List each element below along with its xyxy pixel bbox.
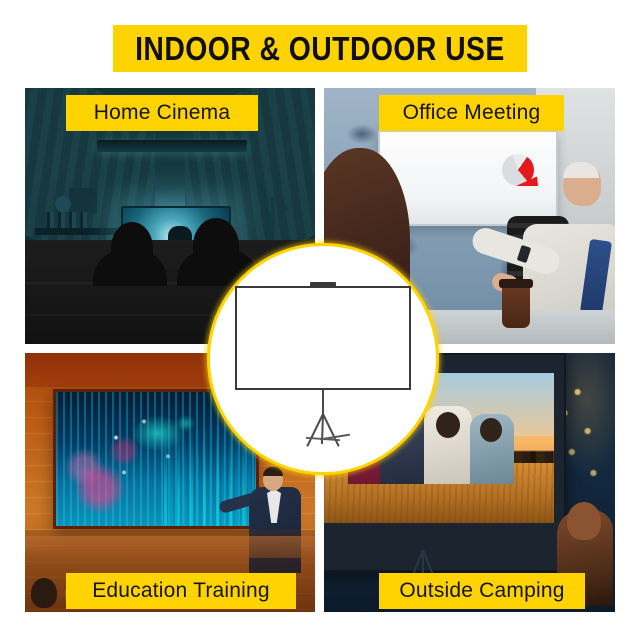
wall-shelf [35,228,117,235]
product-callout-circle [207,243,439,475]
skylight [97,140,247,152]
label-text: Outside Camping [399,579,564,603]
table-lamp [55,196,71,212]
projected-person-head [436,412,460,438]
projected-person-head [480,418,502,442]
title-banner: INDOOR & OUTDOOR USE [113,25,527,72]
label-office-meeting: Office Meeting [379,95,564,131]
viewer-head-left [111,222,153,274]
audience-head [31,578,57,608]
projector-screen-surface [235,286,411,390]
page-title: INDOOR & OUTDOOR USE [135,30,505,68]
shelf-box [69,188,97,214]
label-text: Office Meeting [403,101,541,125]
seat-row [25,536,315,558]
coffee-cup [502,284,530,328]
label-education-training: Education Training [66,573,296,609]
label-text: Education Training [92,579,270,603]
lecturer-hair [263,467,283,476]
coffee-cup-lid [499,279,533,288]
tripod-leg [322,414,340,447]
label-home-cinema: Home Cinema [66,95,258,131]
viewer-head-right [193,218,239,274]
foreground-viewer-head [567,502,601,540]
product-feature-graphic: INDOOR & OUTDOOR USE [0,0,640,640]
label-outside-camping: Outside Camping [379,573,585,609]
bookshelf-books [43,212,91,229]
label-text: Home Cinema [94,101,230,125]
